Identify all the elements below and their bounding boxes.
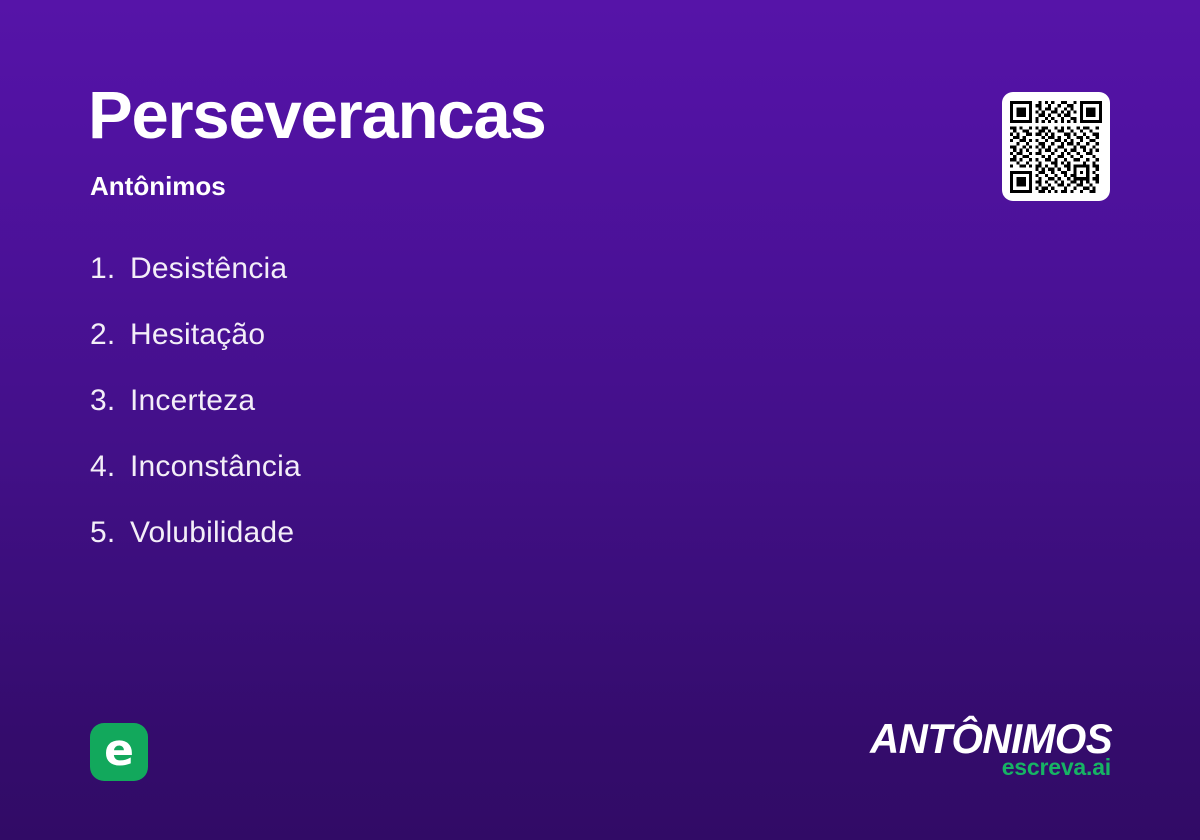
brand-logo[interactable]: ANTÔNIMOS escreva.ai (860, 718, 1112, 779)
antonym-card: Perseverancas Antônimos 1.Desistência 2.… (0, 0, 1200, 840)
list-item: 5.Volubilidade (90, 500, 890, 566)
title-block: Perseverancas Antônimos (88, 82, 928, 199)
qr-code-icon[interactable] (1002, 92, 1110, 201)
list-item-index: 4. (90, 434, 130, 500)
list-item-index: 5. (90, 500, 130, 566)
escreva-badge-icon[interactable]: e (90, 723, 148, 781)
list-item-word: Incerteza (130, 384, 255, 417)
page-subtitle: Antônimos (90, 173, 928, 199)
brand-badge-letter: e (104, 729, 134, 773)
list-item-word: Desistência (130, 252, 287, 285)
list-item-index: 1. (90, 236, 130, 302)
brand-logo-title: ANTÔNIMOS (870, 718, 1112, 760)
list-item-word: Inconstância (130, 450, 301, 483)
list-item: 2.Hesitação (90, 302, 890, 368)
list-item: 1.Desistência (90, 236, 890, 302)
list-item-index: 2. (90, 302, 130, 368)
page-title: Perseverancas (88, 82, 928, 149)
list-item: 3.Incerteza (90, 368, 890, 434)
list-item: 4.Inconstância (90, 434, 890, 500)
antonym-list: 1.Desistência 2.Hesitação 3.Incerteza 4.… (90, 236, 890, 566)
list-item-index: 3. (90, 368, 130, 434)
list-item-word: Volubilidade (130, 516, 294, 549)
list-item-word: Hesitação (130, 318, 265, 351)
